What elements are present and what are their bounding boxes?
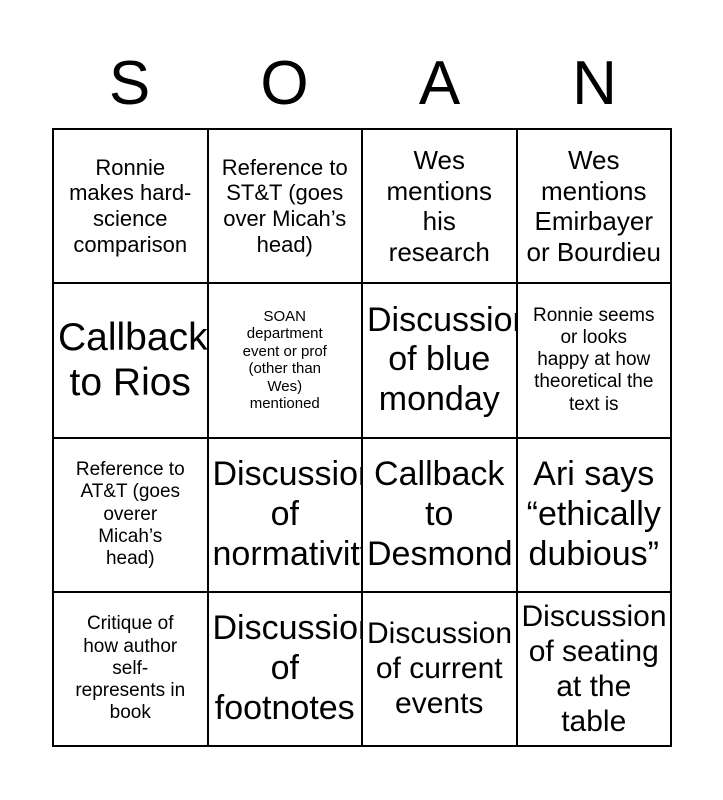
bingo-cell-r3-c1[interactable]: Reference to AT&T (goes overer Micah’s h…	[54, 439, 209, 593]
bingo-cell-label: Wes mentions his research	[367, 145, 512, 267]
bingo-cell-label: Callback to Desmond	[367, 455, 512, 574]
title-letter-4: N	[517, 53, 672, 115]
bingo-cell-label: Discussion of normativity	[213, 455, 358, 574]
bingo-cell-label: Ronnie seems or looks happy at how theor…	[522, 305, 667, 416]
bingo-grid: Ronnie makes hard- science comparisonRef…	[52, 128, 672, 747]
bingo-cell-label: Discussion of current events	[367, 616, 512, 721]
bingo-cell-r2-c3[interactable]: Discussion of blue monday	[363, 284, 518, 438]
bingo-cell-label: Discussion of footnotes	[213, 609, 358, 728]
bingo-cell-r4-c4[interactable]: Discussion of seating at the table	[518, 593, 673, 747]
bingo-cell-label: Wes mentions Emirbayer or Bourdieu	[522, 145, 667, 267]
bingo-cell-label: Reference to AT&T (goes overer Micah’s h…	[58, 459, 203, 570]
bingo-cell-r1-c4[interactable]: Wes mentions Emirbayer or Bourdieu	[518, 130, 673, 284]
title-letter-1: S	[52, 53, 207, 115]
bingo-cell-r2-c4[interactable]: Ronnie seems or looks happy at how theor…	[518, 284, 673, 438]
bingo-cell-label: Discussion of seating at the table	[522, 599, 667, 739]
bingo-cell-label: Ari says “ethically dubious”	[522, 455, 667, 574]
bingo-cell-r3-c3[interactable]: Callback to Desmond	[363, 439, 518, 593]
bingo-card: S O A N Ronnie makes hard- science compa…	[0, 0, 723, 800]
bingo-cell-r1-c3[interactable]: Wes mentions his research	[363, 130, 518, 284]
bingo-cell-r2-c2[interactable]: SOAN department event or prof (other tha…	[209, 284, 364, 438]
bingo-cell-r4-c2[interactable]: Discussion of footnotes	[209, 593, 364, 747]
bingo-title: S O A N	[52, 48, 672, 120]
bingo-cell-label: Critique of how author self- represents …	[58, 613, 203, 724]
title-letter-2: O	[207, 53, 362, 115]
bingo-cell-label: Discussion of blue monday	[367, 301, 512, 420]
bingo-cell-label: Reference to ST&T (goes over Micah’s hea…	[213, 155, 358, 258]
bingo-cell-r2-c1[interactable]: Callback to Rios	[54, 284, 209, 438]
bingo-cell-r3-c4[interactable]: Ari says “ethically dubious”	[518, 439, 673, 593]
bingo-cell-label: Callback to Rios	[58, 315, 203, 406]
bingo-cell-r3-c2[interactable]: Discussion of normativity	[209, 439, 364, 593]
title-letter-3: A	[362, 53, 517, 115]
bingo-cell-r1-c1[interactable]: Ronnie makes hard- science comparison	[54, 130, 209, 284]
bingo-cell-label: SOAN department event or prof (other tha…	[213, 308, 358, 413]
bingo-cell-r4-c1[interactable]: Critique of how author self- represents …	[54, 593, 209, 747]
bingo-cell-r1-c2[interactable]: Reference to ST&T (goes over Micah’s hea…	[209, 130, 364, 284]
bingo-cell-r4-c3[interactable]: Discussion of current events	[363, 593, 518, 747]
bingo-cell-label: Ronnie makes hard- science comparison	[58, 155, 203, 258]
